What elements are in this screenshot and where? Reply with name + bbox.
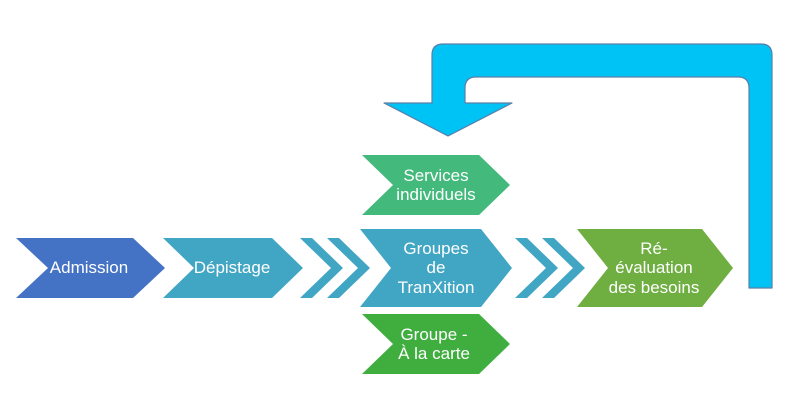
chevron-reevaluation-des-besoins[interactable] <box>577 229 733 307</box>
chevron-admission[interactable] <box>16 238 165 298</box>
flowchart-canvas <box>0 0 800 401</box>
chevron-groupes-de-tranxition[interactable] <box>360 229 512 307</box>
chevron-services-individuels[interactable] <box>362 155 510 215</box>
flowchart-diagram: Admission Dépistage Services individuels… <box>0 0 800 401</box>
chevron-depistage[interactable] <box>163 238 303 298</box>
chevron-groupe-a-la-carte[interactable] <box>362 314 510 374</box>
